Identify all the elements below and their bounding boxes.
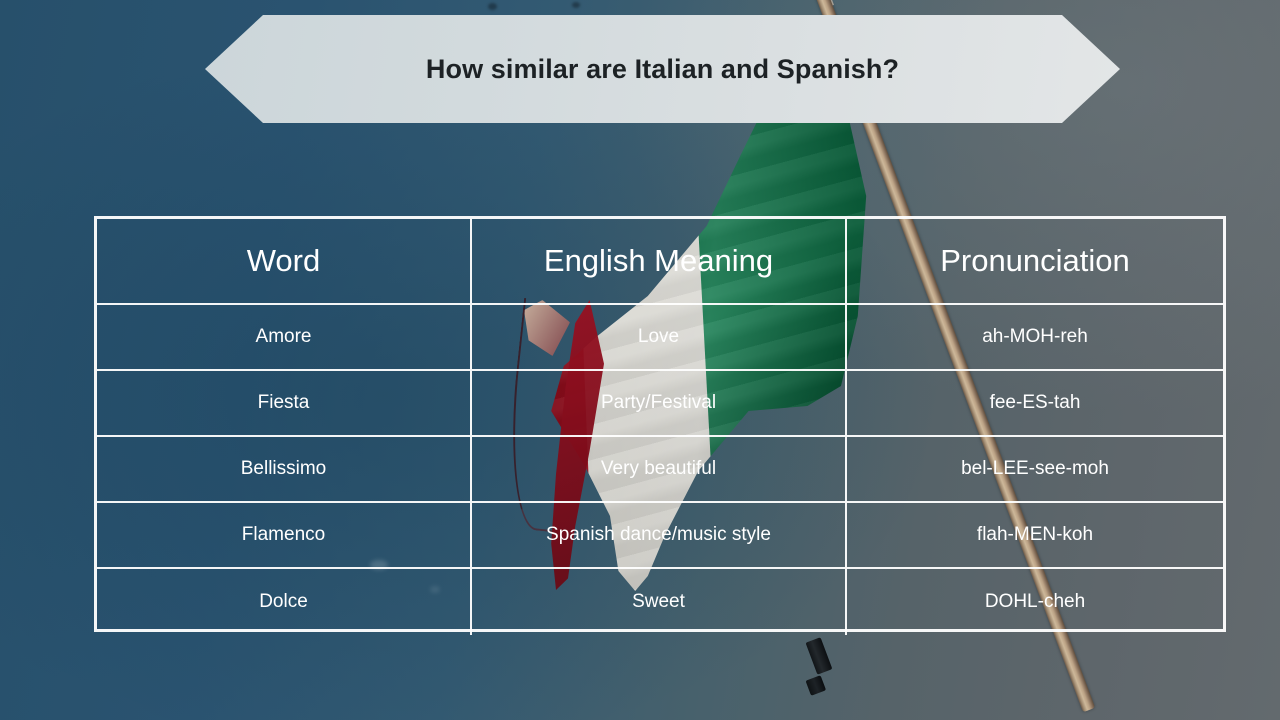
- cell-meaning: Very beautiful: [472, 437, 847, 501]
- cell-word: Flamenco: [97, 503, 472, 567]
- cell-pronunciation: DOHL-cheh: [847, 569, 1223, 635]
- cell-word: Fiesta: [97, 371, 472, 435]
- cell-meaning: Love: [472, 305, 847, 369]
- cell-pronunciation: bel-LEE-see-moh: [847, 437, 1223, 501]
- cell-word: Amore: [97, 305, 472, 369]
- page-title: How similar are Italian and Spanish?: [426, 54, 899, 85]
- table-header-row: Word English Meaning Pronunciation: [97, 219, 1223, 305]
- background-speck: [488, 3, 497, 10]
- table-row: Bellissimo Very beautiful bel-LEE-see-mo…: [97, 437, 1223, 503]
- cell-meaning: Spanish dance/music style: [472, 503, 847, 567]
- table-row: Fiesta Party/Festival fee-ES-tah: [97, 371, 1223, 437]
- column-header-word: Word: [97, 219, 472, 303]
- table-row: Dolce Sweet DOHL-cheh: [97, 569, 1223, 635]
- table-row: Flamenco Spanish dance/music style flah-…: [97, 503, 1223, 569]
- table-row: Amore Love ah-MOH-reh: [97, 305, 1223, 371]
- cell-meaning: Sweet: [472, 569, 847, 635]
- cell-word: Bellissimo: [97, 437, 472, 501]
- cell-pronunciation: ah-MOH-reh: [847, 305, 1223, 369]
- background-speck: [572, 2, 580, 8]
- cell-pronunciation: flah-MEN-koh: [847, 503, 1223, 567]
- cell-meaning: Party/Festival: [472, 371, 847, 435]
- cell-pronunciation: fee-ES-tah: [847, 371, 1223, 435]
- vocabulary-table: Word English Meaning Pronunciation Amore…: [94, 216, 1226, 632]
- column-header-english-meaning: English Meaning: [472, 219, 847, 303]
- column-header-pronunciation: Pronunciation: [847, 219, 1223, 303]
- cell-word: Dolce: [97, 569, 472, 635]
- title-banner: How similar are Italian and Spanish?: [205, 15, 1120, 123]
- slide-canvas: How similar are Italian and Spanish? Wor…: [0, 0, 1280, 720]
